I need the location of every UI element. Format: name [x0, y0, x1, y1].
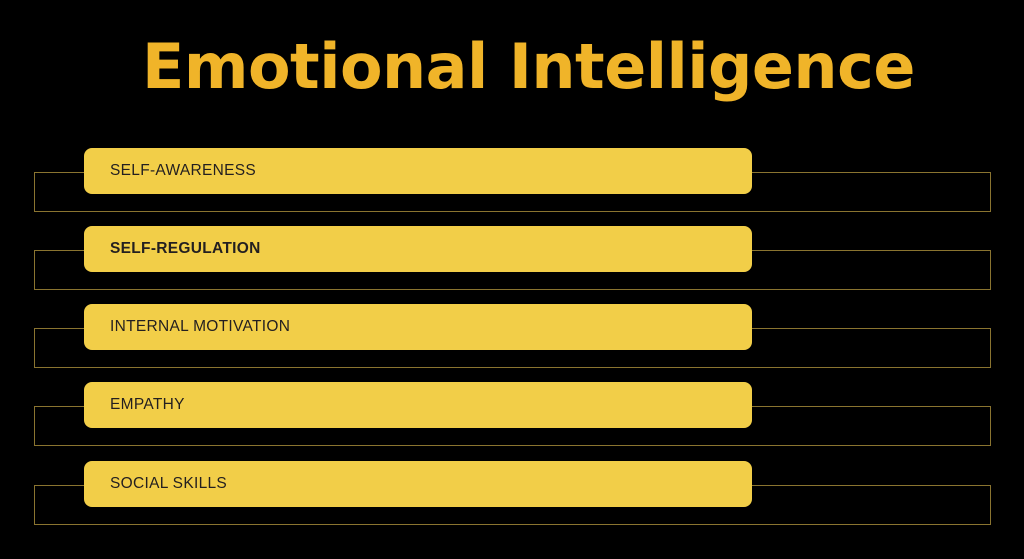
list-item[interactable]: INTERNAL MOTIVATION	[0, 304, 1024, 382]
row-label: INTERNAL MOTIVATION	[84, 318, 290, 336]
page-title: Emotional Intelligence	[142, 27, 902, 107]
list-item[interactable]: SOCIAL SKILLS	[0, 461, 1024, 539]
row-bar-shape[interactable]: INTERNAL MOTIVATION	[84, 304, 752, 350]
row-bar-shape[interactable]: SOCIAL SKILLS	[84, 461, 752, 507]
row-bar-shape[interactable]: SELF-AWARENESS	[84, 148, 752, 194]
list-item[interactable]: EMPATHY	[0, 382, 1024, 460]
list-item[interactable]: SELF-AWARENESS	[0, 148, 1024, 226]
row-label: SELF-AWARENESS	[84, 162, 256, 180]
row-label: SOCIAL SKILLS	[84, 475, 227, 493]
row-bar-shape[interactable]: SELF-REGULATION	[84, 226, 752, 272]
slide-canvas: Emotional Intelligence SELF-AWARENESS SE…	[0, 0, 1024, 559]
list-item[interactable]: SELF-REGULATION	[0, 226, 1024, 304]
row-label: SELF-REGULATION	[84, 240, 261, 258]
row-bar-shape[interactable]: EMPATHY	[84, 382, 752, 428]
row-label: EMPATHY	[84, 396, 185, 414]
